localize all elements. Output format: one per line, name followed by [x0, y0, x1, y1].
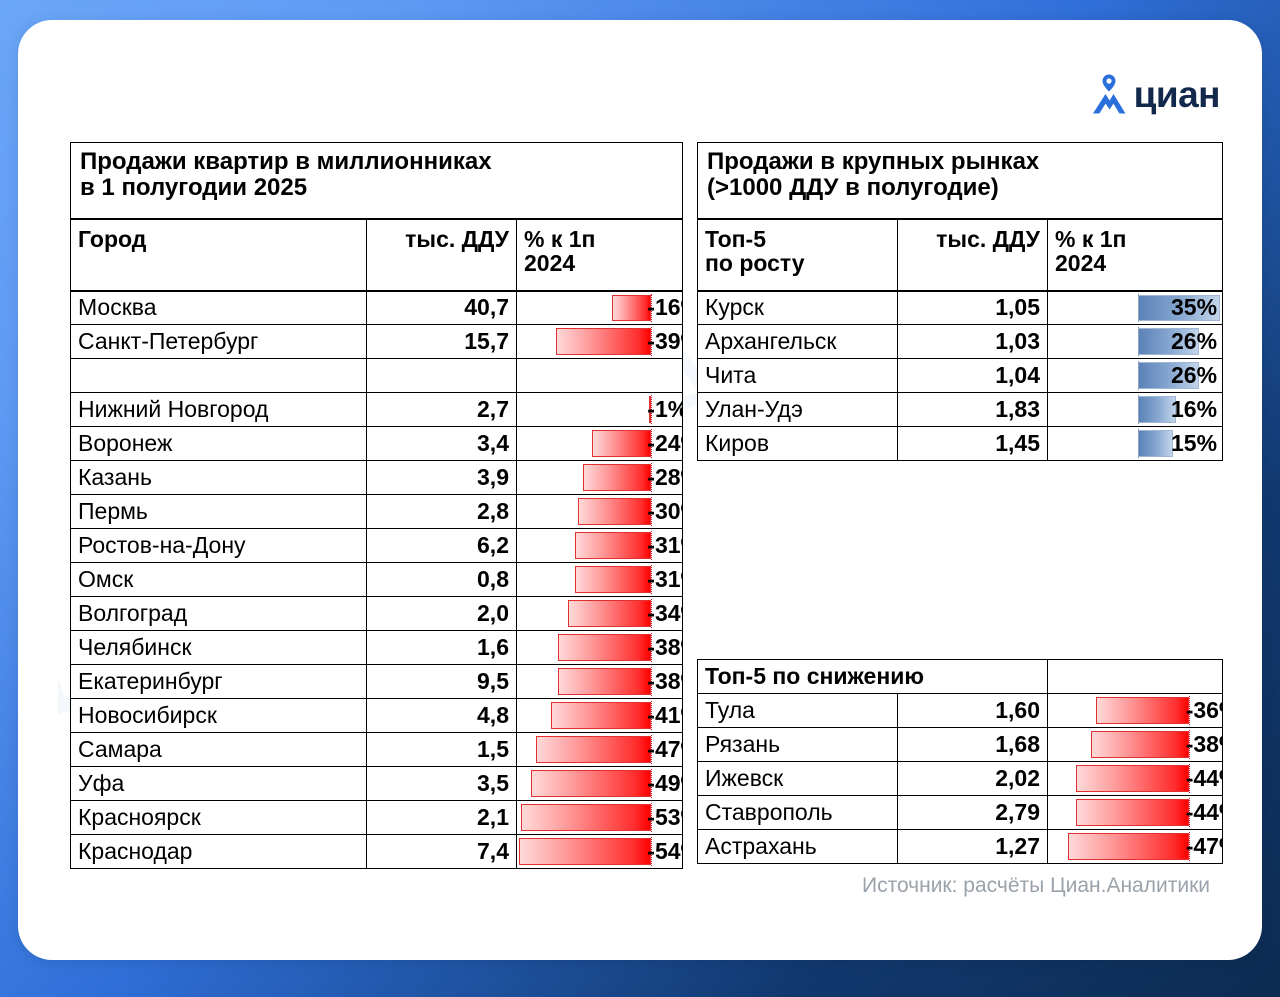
data-bar	[592, 430, 651, 457]
data-bar	[1096, 697, 1189, 724]
pct-bar-cell: -38%	[1048, 728, 1223, 762]
infographic-card: ЦИАН АНАЛИТИКА циан Продажи	[18, 20, 1262, 960]
table-row: Казань3,9-28%	[71, 461, 683, 495]
table-row: Самара1,5-47%	[71, 733, 683, 767]
ddu-value-cell: 6,2	[367, 529, 517, 563]
city-name-cell: Красноярск	[71, 801, 367, 835]
ddu-value-cell: 1,03	[898, 325, 1048, 359]
pct-bar-cell: 26%	[1048, 325, 1223, 359]
table-row: Рязань1,68-38%	[698, 728, 1223, 762]
cian-logo: циан	[1091, 72, 1220, 116]
pct-bar-cell: -36%	[1048, 694, 1223, 728]
ddu-value-cell: 1,27	[898, 830, 1048, 864]
pct-bar-cell: -28%	[517, 461, 683, 495]
pct-bar-cell: -44%	[1048, 796, 1223, 830]
pct-label: -16%	[646, 292, 680, 325]
col-header-pct: % к 1п 2024	[517, 219, 683, 291]
city-name-cell: Санкт-Петербург	[71, 325, 367, 359]
pct-bar-cell: -47%	[517, 733, 683, 767]
city-name-cell: Уфа	[71, 767, 367, 801]
ddu-value-cell: 3,5	[367, 767, 517, 801]
pct-bar-cell: 35%	[1048, 291, 1223, 325]
ddu-value-cell: 3,9	[367, 461, 517, 495]
left-table-title: Продажи квартир в миллионниках в 1 полуг…	[71, 143, 683, 219]
pct-bar-cell: -53%	[517, 801, 683, 835]
city-name-cell: Тула	[698, 694, 898, 728]
city-name-cell: Ростов-на-Дону	[71, 529, 367, 563]
pct-label: -53%	[646, 801, 680, 834]
pct-label: -38%	[1185, 728, 1220, 761]
pct-label: -47%	[646, 733, 680, 766]
table-row: Екатеринбург9,5-38%	[71, 665, 683, 699]
pct-bar-cell: -49%	[517, 767, 683, 801]
bar-axis-line	[1138, 395, 1139, 424]
city-name-cell: Челябинск	[71, 631, 367, 665]
pct-label: -1%	[646, 393, 680, 426]
growth-table: Продажи в крупных рынках (>1000 ДДУ в по…	[697, 142, 1223, 461]
ddu-value-cell: 2,02	[898, 762, 1048, 796]
table-row: Архангельск1,0326%	[698, 325, 1223, 359]
growth-table-title: Продажи в крупных рынках (>1000 ДДУ в по…	[698, 143, 1223, 219]
table-row: Астрахань1,27-47%	[698, 830, 1223, 864]
pct-label: 26%	[1171, 359, 1217, 392]
table-row: Киров1,4515%	[698, 427, 1223, 461]
table-row: Ставрополь2,79-44%	[698, 796, 1223, 830]
data-bar	[578, 498, 651, 525]
table-row: Москва40,7-16%	[71, 291, 683, 325]
pct-bar-cell: -38%	[517, 665, 683, 699]
tables-area: Продажи квартир в миллионниках в 1 полуг…	[70, 142, 1222, 869]
ddu-value-cell: 1,04	[898, 359, 1048, 393]
ddu-value-cell: 15,7	[367, 325, 517, 359]
pct-label: -38%	[646, 631, 680, 664]
table-header-row: Топ-5 по снижению	[698, 660, 1223, 694]
ddu-value-cell: 2,7	[367, 393, 517, 427]
pct-bar-cell: -30%	[517, 495, 683, 529]
cian-pin-logo-icon	[1091, 72, 1127, 116]
pct-label: -34%	[646, 597, 680, 630]
pct-bar-cell: -47%	[1048, 830, 1223, 864]
bar-axis-line	[1138, 327, 1139, 356]
pct-bar-cell: -54%	[517, 835, 683, 869]
table-row: Курск1,0535%	[698, 291, 1223, 325]
table-title-row: Продажи квартир в миллионниках в 1 полуг…	[71, 143, 683, 219]
data-bar	[1138, 430, 1173, 457]
source-note: Источник: расчёты Циан.Аналитики	[862, 874, 1210, 898]
data-bar	[612, 295, 651, 322]
data-bar	[519, 838, 651, 865]
data-bar	[1076, 765, 1190, 792]
city-name-cell: Нижний Новгород	[71, 393, 367, 427]
ddu-value-cell: 1,45	[898, 427, 1048, 461]
ddu-value-cell: 7,4	[367, 835, 517, 869]
pct-bar-cell: -16%	[517, 291, 683, 325]
data-bar	[551, 702, 651, 729]
city-name-cell: Новосибирск	[71, 699, 367, 733]
data-bar	[583, 464, 651, 491]
bar-axis-line	[1138, 429, 1139, 458]
col-header-ddu: тыс. ДДУ	[898, 219, 1048, 291]
table-header-row: Город тыс. ДДУ % к 1п 2024	[71, 219, 683, 291]
city-name-cell: Астрахань	[698, 830, 898, 864]
table-row: Тула1,60-36%	[698, 694, 1223, 728]
decline-table-header-empty	[1048, 660, 1223, 694]
pct-bar-cell: -31%	[517, 529, 683, 563]
pct-label: -28%	[646, 461, 680, 494]
city-name-cell: Воронеж	[71, 427, 367, 461]
pct-bar-cell: -24%	[517, 427, 683, 461]
right-pane: Продажи в крупных рынках (>1000 ДДУ в по…	[697, 142, 1222, 864]
pct-label: 15%	[1171, 427, 1217, 460]
pct-bar-cell: -39%	[517, 325, 683, 359]
city-name-cell: Курск	[698, 291, 898, 325]
ddu-value-cell: 2,8	[367, 495, 517, 529]
pct-label: -30%	[646, 495, 680, 528]
city-name-cell: Волгоград	[71, 597, 367, 631]
table-row: Санкт-Петербург15,7-39%	[71, 325, 683, 359]
pct-label: -47%	[1185, 830, 1220, 863]
city-name-cell: Краснодар	[71, 835, 367, 869]
right-pane-spacer	[697, 461, 1222, 659]
table-header-row: Топ-5 по росту тыс. ДДУ % к 1п 2024	[698, 219, 1223, 291]
data-bar	[536, 736, 651, 763]
ddu-value-cell	[367, 359, 517, 393]
data-bar	[1091, 731, 1189, 758]
data-bar	[568, 600, 651, 627]
data-bar	[531, 770, 651, 797]
city-name-cell	[71, 359, 367, 393]
table-row: Омск0,8-31%	[71, 563, 683, 597]
pct-bar-cell: -38%	[517, 631, 683, 665]
city-name-cell: Ставрополь	[698, 796, 898, 830]
table-row: Пермь2,8-30%	[71, 495, 683, 529]
data-bar	[556, 328, 651, 355]
pct-label: 16%	[1171, 393, 1217, 426]
pct-label: -44%	[1185, 796, 1220, 829]
ddu-value-cell: 2,0	[367, 597, 517, 631]
pct-bar-cell: -1%	[517, 393, 683, 427]
data-bar	[558, 668, 651, 695]
pct-label: -54%	[646, 835, 680, 868]
bar-axis-line	[1138, 361, 1139, 390]
city-name-cell: Улан-Удэ	[698, 393, 898, 427]
data-bar	[1068, 833, 1189, 860]
ddu-value-cell: 4,8	[367, 699, 517, 733]
city-name-cell: Чита	[698, 359, 898, 393]
ddu-value-cell: 9,5	[367, 665, 517, 699]
city-name-cell: Ижевск	[698, 762, 898, 796]
ddu-value-cell: 1,60	[898, 694, 1048, 728]
ddu-value-cell: 1,05	[898, 291, 1048, 325]
pct-label: -41%	[646, 699, 680, 732]
table-row: Челябинск1,6-38%	[71, 631, 683, 665]
millionniki-table: Продажи квартир в миллионниках в 1 полуг…	[70, 142, 683, 869]
col-header-pct: % к 1п 2024	[1048, 219, 1223, 291]
pct-label: -36%	[1185, 694, 1220, 727]
ddu-value-cell: 0,8	[367, 563, 517, 597]
table-row: Красноярск2,1-53%	[71, 801, 683, 835]
table-row: Новосибирск4,8-41%	[71, 699, 683, 733]
pct-label: -38%	[646, 665, 680, 698]
data-bar	[521, 804, 651, 831]
pct-label: -31%	[646, 529, 680, 562]
table-row: Волгоград2,0-34%	[71, 597, 683, 631]
bar-axis-line	[1138, 294, 1139, 323]
pct-bar-cell: -41%	[517, 699, 683, 733]
col-header-ddu: тыс. ДДУ	[367, 219, 517, 291]
pct-label: -24%	[646, 427, 680, 460]
pct-label: -39%	[646, 325, 680, 358]
city-name-cell: Москва	[71, 291, 367, 325]
ddu-value-cell: 2,79	[898, 796, 1048, 830]
table-row: Воронеж3,4-24%	[71, 427, 683, 461]
ddu-value-cell: 1,6	[367, 631, 517, 665]
pct-label: -49%	[646, 767, 680, 800]
table-row: Уфа3,5-49%	[71, 767, 683, 801]
pct-bar-cell: 15%	[1048, 427, 1223, 461]
data-bar	[558, 634, 651, 661]
pct-label: -44%	[1185, 762, 1220, 795]
ddu-value-cell: 1,68	[898, 728, 1048, 762]
col-header-top5-growth: Топ-5 по росту	[698, 219, 898, 291]
ddu-value-cell: 3,4	[367, 427, 517, 461]
table-row	[71, 359, 683, 393]
pct-bar-cell: 16%	[1048, 393, 1223, 427]
city-name-cell: Екатеринбург	[71, 665, 367, 699]
table-title-row: Продажи в крупных рынках (>1000 ДДУ в по…	[698, 143, 1223, 219]
table-row: Ростов-на-Дону6,2-31%	[71, 529, 683, 563]
city-name-cell: Пермь	[71, 495, 367, 529]
pct-bar-cell: -44%	[1048, 762, 1223, 796]
pct-label: 35%	[1171, 292, 1217, 325]
ddu-value-cell: 40,7	[367, 291, 517, 325]
col-header-city: Город	[71, 219, 367, 291]
ddu-value-cell: 2,1	[367, 801, 517, 835]
data-bar	[575, 566, 651, 593]
city-name-cell: Казань	[71, 461, 367, 495]
table-row: Ижевск2,02-44%	[698, 762, 1223, 796]
pct-bar-cell: -34%	[517, 597, 683, 631]
decline-table-header: Топ-5 по снижению	[698, 660, 1048, 694]
city-name-cell: Архангельск	[698, 325, 898, 359]
pct-label: 26%	[1171, 325, 1217, 358]
data-bar	[575, 532, 651, 559]
pct-label: -31%	[646, 563, 680, 596]
table-row: Улан-Удэ1,8316%	[698, 393, 1223, 427]
city-name-cell: Рязань	[698, 728, 898, 762]
table-row: Чита1,0426%	[698, 359, 1223, 393]
data-bar	[1076, 799, 1190, 826]
ddu-value-cell: 1,83	[898, 393, 1048, 427]
city-name-cell: Киров	[698, 427, 898, 461]
city-name-cell: Омск	[71, 563, 367, 597]
table-row: Краснодар7,4-54%	[71, 835, 683, 869]
cian-wordmark: циан	[1134, 76, 1220, 113]
left-pane: Продажи квартир в миллионниках в 1 полуг…	[70, 142, 682, 869]
pct-bar-cell	[517, 359, 683, 393]
ddu-value-cell: 1,5	[367, 733, 517, 767]
pct-bar-cell: 26%	[1048, 359, 1223, 393]
decline-table: Топ-5 по снижению Тула1,60-36%Рязань1,68…	[697, 659, 1223, 864]
pct-bar-cell: -31%	[517, 563, 683, 597]
city-name-cell: Самара	[71, 733, 367, 767]
table-row: Нижний Новгород2,7-1%	[71, 393, 683, 427]
